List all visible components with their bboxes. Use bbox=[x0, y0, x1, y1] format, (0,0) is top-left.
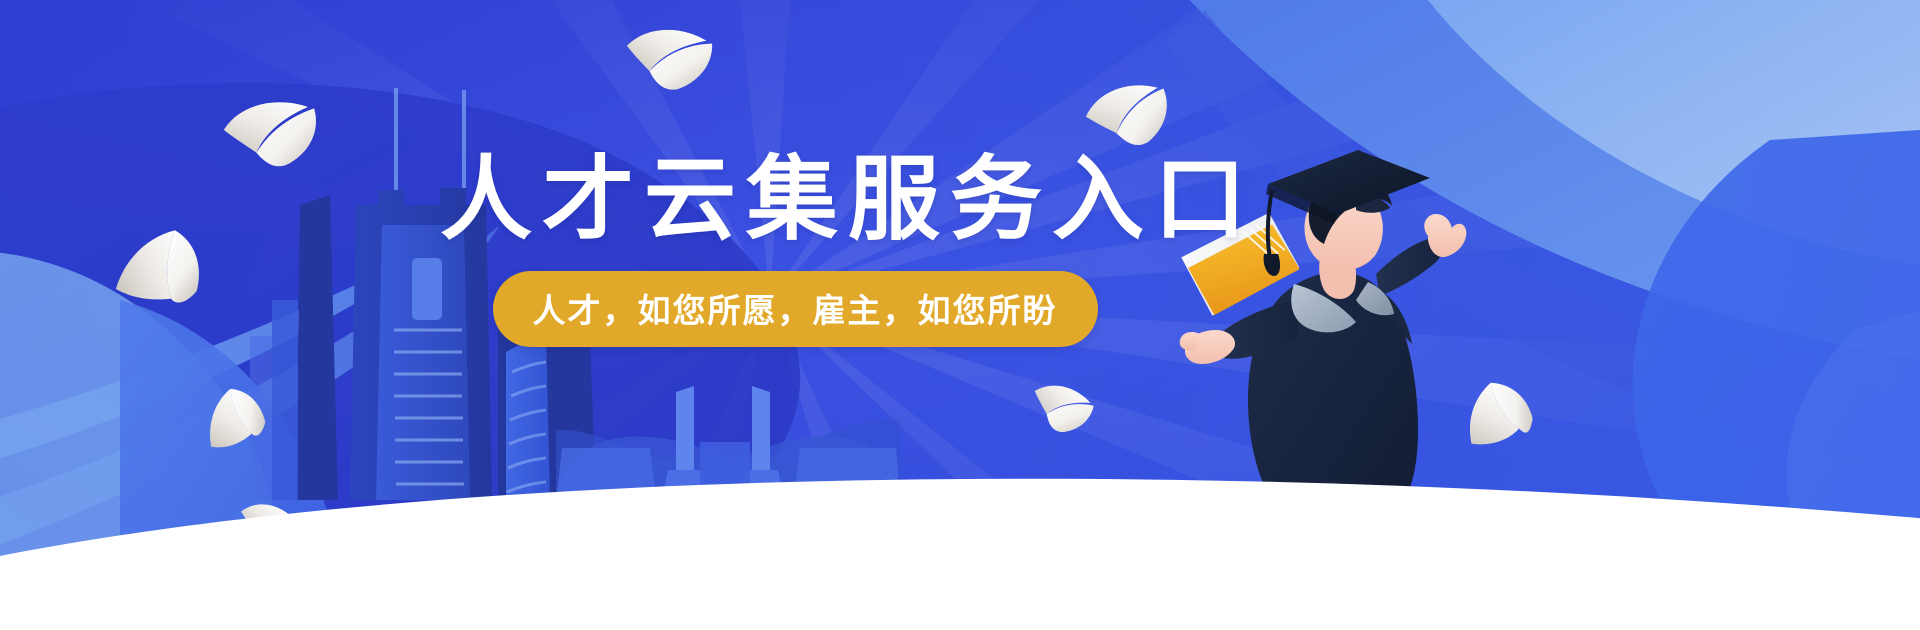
page-title: 人才云集服务入口 bbox=[430, 152, 1160, 249]
hero-banner: 人才云集服务入口 人才，如您所愿，雇主，如您所盼 bbox=[0, 0, 1920, 630]
headline-block: 人才云集服务入口 人才，如您所愿，雇主，如您所盼 bbox=[430, 152, 1160, 347]
subtitle-badge: 人才，如您所愿，雇主，如您所盼 bbox=[493, 271, 1098, 347]
